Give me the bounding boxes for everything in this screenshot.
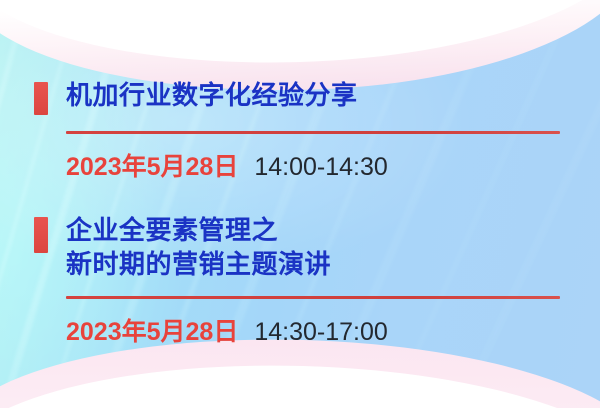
session-time: 14:30-17:00 [254,318,387,347]
session-title-row: 企业全要素管理之 新时期的营销主题演讲 [34,213,560,281]
session-accent-bar-icon [34,217,48,253]
event-schedule-banner: 机加行业数字化经验分享 2023年5月28日 14:00-14:30 企业全要素… [0,0,600,408]
session-title-line: 机加行业数字化经验分享 [66,78,358,112]
session-time: 14:00-14:30 [254,153,387,182]
session-divider [66,296,560,299]
session-date: 2023年5月28日 [66,147,238,183]
session-divider [66,131,560,134]
session-title: 机加行业数字化经验分享 [66,78,358,112]
session-datetime-row: 2023年5月28日 14:00-14:30 [66,147,560,183]
session-item: 机加行业数字化经验分享 2023年5月28日 14:00-14:30 [34,78,560,183]
session-item: 企业全要素管理之 新时期的营销主题演讲 2023年5月28日 14:30-17:… [34,213,560,348]
session-title-line: 企业全要素管理之 [66,213,331,247]
session-date: 2023年5月28日 [66,312,238,348]
session-accent-bar-icon [34,82,48,115]
session-title: 企业全要素管理之 新时期的营销主题演讲 [66,213,331,281]
session-title-row: 机加行业数字化经验分享 [34,78,560,115]
session-title-line: 新时期的营销主题演讲 [66,247,331,281]
banner-content: 机加行业数字化经验分享 2023年5月28日 14:00-14:30 企业全要素… [0,0,600,408]
session-datetime-row: 2023年5月28日 14:30-17:00 [66,312,560,348]
